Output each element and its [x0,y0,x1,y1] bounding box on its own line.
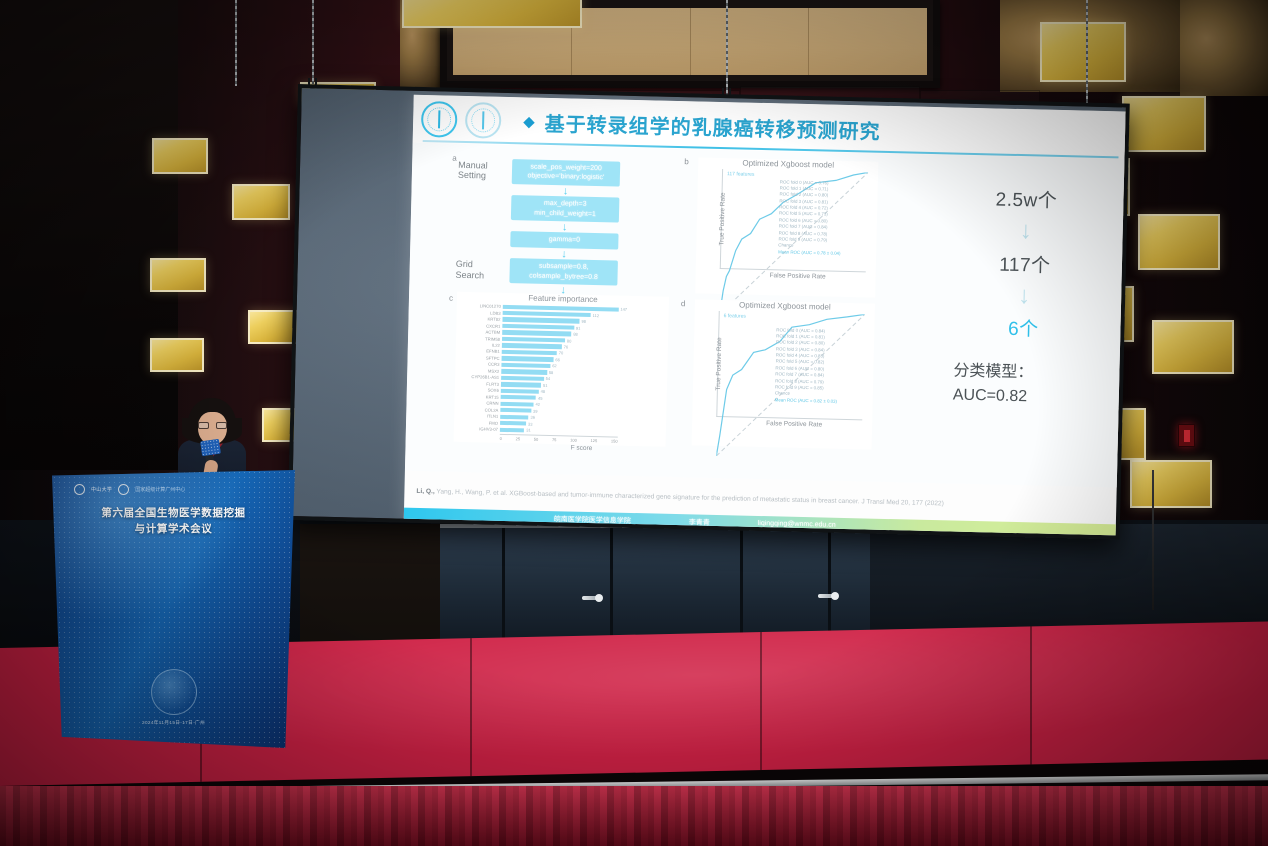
screen-suspension-chain [1086,0,1088,104]
gold-accent-panel [1040,22,1126,82]
feature-value: 112 [593,313,600,318]
feature-bar [502,350,557,355]
center-crest-icon [118,484,129,495]
gold-accent-panel [1138,214,1220,270]
feature-value: 36 [530,415,535,420]
podium-logo-text-2: 国家超级计算广州中心 [135,486,185,493]
footer-organization: 皖南医学院医学信息学院 [554,514,631,526]
x-tick: 100 [570,437,577,442]
feature-bar [500,408,531,413]
screen-suspension-chain [312,0,314,84]
gene-count-filtered: 117个 [950,248,1101,279]
feature-bar [500,421,526,426]
panel-label-b: b [684,157,689,166]
flow-spacer [456,238,510,239]
stand-pole [1152,470,1154,610]
slide-title: 基于转录组学的乳腺癌转移预测研究 [544,107,881,144]
speaker-podium: 中山大学 国家超级计算广州中心 第六届全国生物医学数据挖掘 与计算学术会议 20… [52,470,295,748]
screen-suspension-chain [726,0,728,96]
feature-value: 58 [549,370,554,375]
feature-value: 98 [582,319,587,324]
flow-box: scale_pos_weight=200 objective='binary:l… [512,159,621,186]
feature-value: 147 [620,307,627,312]
feature-value: 48 [541,389,546,394]
left-dark-wall [0,0,178,470]
citation-rest: Yang, H., Wang, P. et al. XGBoost-based … [435,489,944,508]
feature-bar [502,337,565,343]
feature-name: LINC01270 [459,303,503,309]
gold-accent-panel [402,0,582,28]
screen-suspension-chain [235,0,237,86]
feature-bar [502,317,579,323]
institution-seal-left-icon [421,101,458,138]
x-tick: 25 [516,436,521,441]
gene-count-final: 6个 [948,313,1099,344]
feature-value: 66 [555,357,560,362]
classification-model-label: 分类模型： [953,360,1098,387]
panel-c-feature-importance-chart: Feature importance LINC01270147LDB3112KR… [454,292,669,447]
x-tick: 75 [552,437,557,442]
slide-citation: Li, Q., Yang, H., Wang, P. et al. XGBoos… [416,487,1104,513]
chart-legend: ROC fold 0 (AUC = 0.84)ROC fold 1 (AUC =… [775,327,863,406]
slide-body: a b c d Manual Setting scale_pos_weight=… [405,143,1129,488]
gold-accent-panel [150,258,206,292]
flow-spacer [457,206,511,207]
auc-value: AUC=0.82 [953,384,1098,411]
feature-bar [500,402,533,407]
feature-name: TRIM58 [458,335,502,341]
podium-footer: 2024年11月15日-17日·广州 [52,669,295,726]
x-tick: 125 [591,438,598,443]
gold-accent-panel [1130,460,1212,508]
feature-name: KRT82 [458,316,502,322]
feature-value: 88 [573,332,578,337]
feature-name: ACTBM [458,329,502,335]
wall-segment-left-of-doors [300,524,440,654]
chart-xlabel: F score [497,442,665,453]
university-crest-icon [74,484,85,495]
feature-bar [501,363,550,368]
feature-bar [502,330,571,336]
projection-screen: ◆ 基于转录组学的乳腺癌转移预测研究 a b c d Manual Settin… [288,84,1130,539]
feature-bar [502,343,562,349]
feature-name: KRT15 [457,394,501,400]
feature-bar [501,369,547,374]
down-arrow-icon: ↓ [949,283,1099,308]
panel-label-a: a [452,154,457,163]
feature-name: EFNB1 [458,348,502,354]
feature-name: MSX2 [457,368,501,374]
feature-name: SOX6 [457,387,501,393]
podium-title-line-2: 与计算学术会议 [62,522,285,538]
feature-value: 80 [567,338,572,343]
flow-label-grid-search: Grid Search [455,259,509,281]
chart-legend: ROC fold 0 (AUC = 0.76)ROC fold 1 (AUC =… [778,179,866,258]
gold-accent-panel [150,338,204,372]
feature-value: 62 [552,364,557,369]
feature-name: CXCR1 [458,322,502,328]
stage-skirt [0,786,1268,846]
door-handle[interactable] [818,594,835,598]
gold-accent-panel [232,184,290,220]
feature-name: IL22 [458,342,502,348]
flow-box: max_depth=3 min_child_weight=1 [511,195,620,222]
feature-name: CRNN [456,400,500,406]
footer-presenter-name: 李青青 [689,517,710,527]
citation-first-author: Li, Q., [416,488,434,495]
feature-name: FLRT3 [457,381,501,387]
footer-email: liqingqing@wnmc.edu.cn [758,520,836,529]
feature-value: 51 [543,383,548,388]
panel-label-d: d [681,299,686,308]
feature-name: COL2A [456,407,500,413]
podium-title-line-1: 第六届全国生物医学数据挖掘 [62,506,285,522]
feature-value: 45 [538,396,543,401]
slide-summary-column: 2.5w个 ↓ 117个 ↓ 6个 分类模型： AUC=0.82 [947,183,1102,411]
feature-name: LDB3 [459,309,503,315]
feature-name: ITLN1 [456,413,500,419]
feature-bar [502,324,574,330]
feature-bar [502,356,554,361]
down-arrow-icon: ↓ [951,218,1101,243]
feature-name: SFTPC [458,355,502,361]
feature-importance-x-axis: 0255075100125150 [500,434,618,444]
podium-conference-title: 第六届全国生物医学数据挖掘 与计算学术会议 [62,506,285,538]
feature-value: 54 [546,376,551,381]
podium-subtitle: 2024年11月15日-17日·广州 [52,720,295,726]
feature-name: CYP26B1-AS1 [457,374,501,380]
bullet-diamond-icon: ◆ [523,112,535,130]
microphone-flag [200,439,221,456]
gene-count-total: 2.5w个 [951,183,1102,214]
emergency-exit-sign [1178,424,1195,447]
eyeglasses-icon [198,422,227,429]
institution-seal-right-icon [465,102,502,139]
x-tick: 50 [534,436,539,441]
stone-texture-right [1180,0,1268,96]
flow-box: subsample=0.8, colsample_bytree=0.8 [509,258,618,285]
gold-accent-panel [152,138,208,174]
feature-name: CCR3 [457,361,501,367]
feature-value: 39 [533,408,538,413]
feature-bar [500,428,524,433]
panel-d-roc-chart: Optimized Xgboost model True Positive Ra… [692,299,875,449]
slide-logos [421,101,502,139]
projected-slide: ◆ 基于转录组学的乳腺癌转移预测研究 a b c d Manual Settin… [404,95,1130,540]
panel-label-c: c [449,294,453,303]
podium-logo-text-1: 中山大学 [91,486,112,493]
feature-name: IGHV3-07 [456,426,500,432]
feature-bar [501,395,536,400]
conference-photo: ◆ 基于转录组学的乳腺癌转移预测研究 a b c d Manual Settin… [0,0,1268,846]
feature-bar [501,376,544,381]
feature-bar [500,415,528,420]
flow-label-manual-setting: Manual Setting [458,160,512,182]
gold-accent-panel [1122,96,1206,152]
door-handle[interactable] [582,596,599,600]
feature-bar [501,382,541,387]
podium-logo-row: 中山大学 国家超级计算广州中心 [74,484,277,495]
flow-box: gamma=0 [510,231,618,249]
x-tick: 150 [611,438,618,443]
feature-value: 42 [535,402,540,407]
panel-b-roc-chart: Optimized Xgboost model True Positive Ra… [695,157,878,297]
feature-value: 91 [576,325,581,330]
feature-bar [501,389,539,394]
x-tick: 0 [500,436,502,441]
feature-value: 70 [559,351,564,356]
feature-value: 76 [564,344,569,349]
feature-value: 31 [526,428,531,433]
gold-accent-panel [1152,320,1234,374]
feature-value: 33 [528,421,533,426]
feature-name: FMO [456,420,500,426]
podium-globe-graphic [151,669,197,715]
